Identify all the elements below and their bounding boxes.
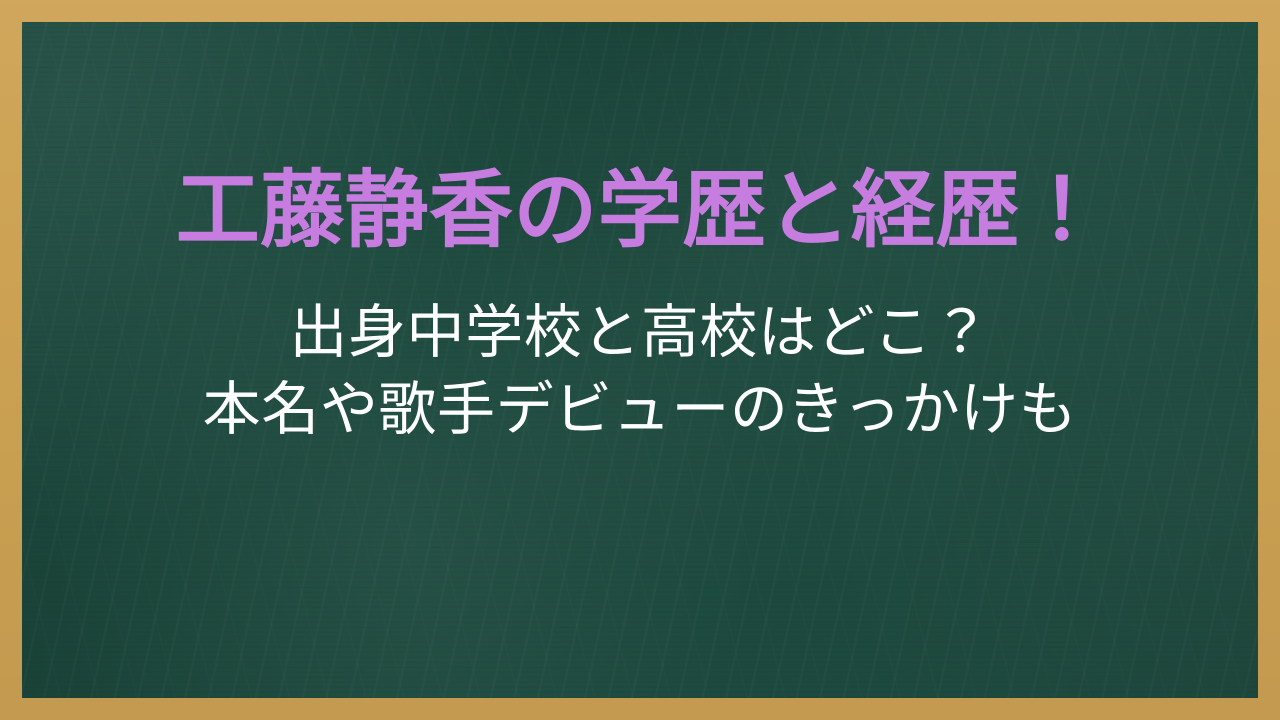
- thumbnail-frame: 工藤静香の学歴と経歴！ 出身中学校と高校はどこ？ 本名や歌手デビューのきっかけも: [0, 0, 1280, 720]
- page-title: 工藤静香の学歴と経歴！: [176, 165, 1105, 256]
- page-subtitle: 出身中学校と高校はどこ？ 本名や歌手デビューのきっかけも: [203, 294, 1078, 449]
- subtitle-line-1: 出身中学校と高校はどこ？: [203, 294, 1078, 372]
- subtitle-line-2: 本名や歌手デビューのきっかけも: [203, 371, 1078, 449]
- board-content: 工藤静香の学歴と経歴！ 出身中学校と高校はどこ？ 本名や歌手デビューのきっかけも: [0, 0, 1280, 720]
